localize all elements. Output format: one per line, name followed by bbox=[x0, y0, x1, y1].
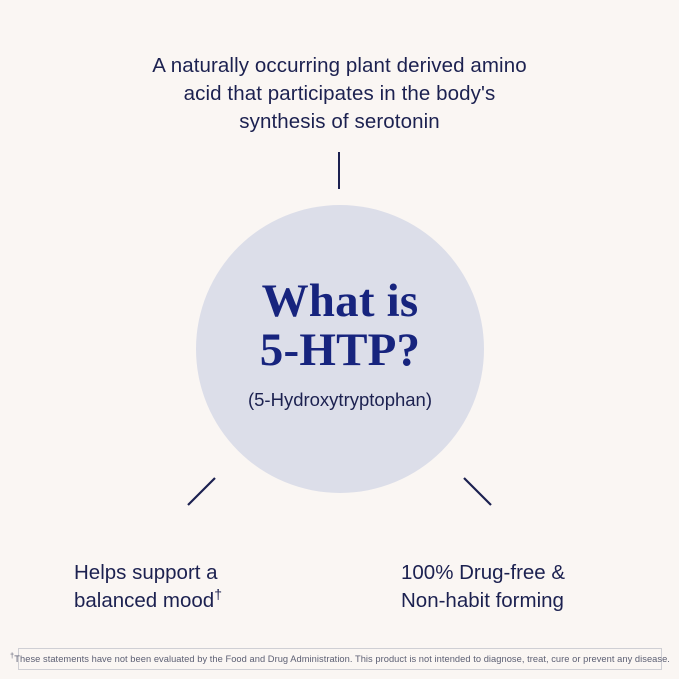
circle-heading: What is 5-HTP? bbox=[260, 277, 420, 375]
disclaimer-line: †These statements have not been evaluate… bbox=[10, 654, 670, 665]
disclaimer-body: These statements have not been evaluated… bbox=[14, 654, 670, 664]
central-circle-content: What is 5-HTP? (5-Hydroxytryptophan) bbox=[196, 205, 484, 493]
benefit-drug-free: 100% Drug-free & Non-habit forming bbox=[401, 531, 565, 615]
intro-description: A naturally occurring plant derived amin… bbox=[0, 52, 679, 136]
circle-subheading: (5-Hydroxytryptophan) bbox=[248, 389, 432, 411]
benefit-balanced-mood: Helps support a balanced mood† bbox=[74, 531, 222, 615]
benefit-balanced-mood-label: Helps support a balanced mood bbox=[74, 561, 218, 612]
benefit-drug-free-label: 100% Drug-free & Non-habit forming bbox=[401, 561, 565, 612]
infographic-canvas: A naturally occurring plant derived amin… bbox=[0, 0, 679, 679]
disclaimer-box: †These statements have not been evaluate… bbox=[18, 648, 662, 670]
connector-line-vertical bbox=[338, 152, 340, 189]
benefit-balanced-mood-footnote-mark: † bbox=[214, 586, 222, 602]
